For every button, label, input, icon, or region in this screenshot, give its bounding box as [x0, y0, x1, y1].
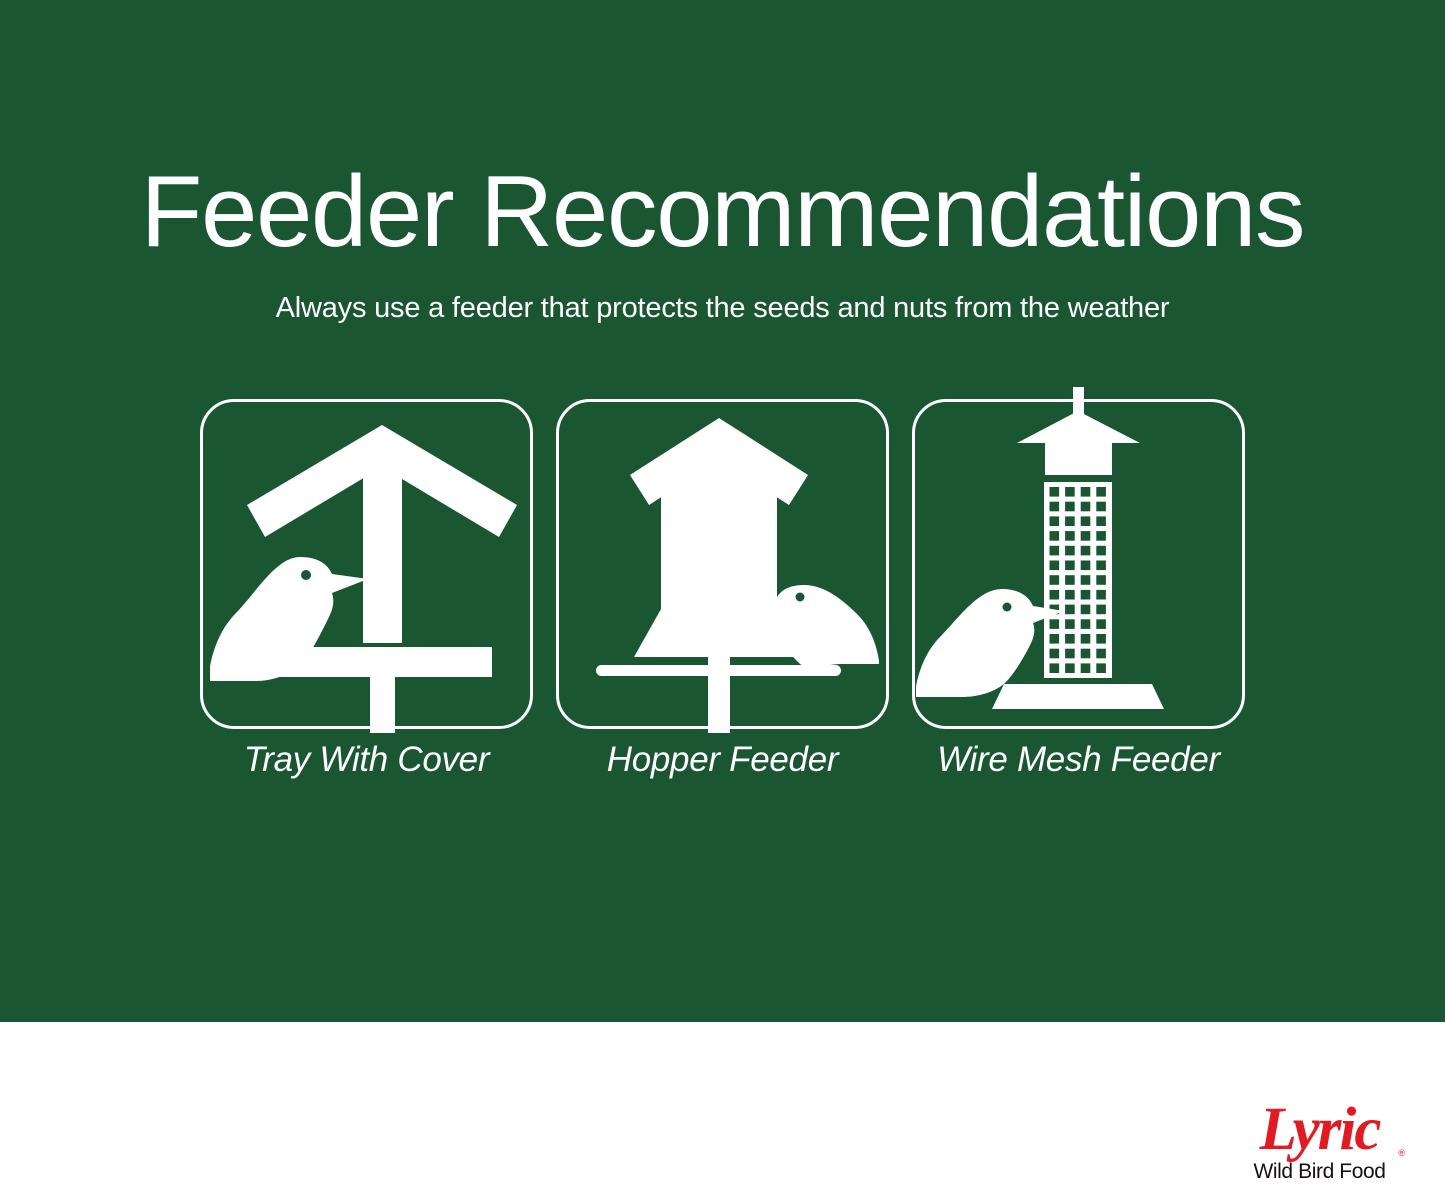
wire-mesh-feeder-icon — [912, 399, 1245, 729]
tray-with-cover-icon-box — [200, 399, 533, 729]
feeder-label-tray-with-cover: Tray With Cover — [186, 739, 547, 781]
page-title: Feeder Recommendations — [0, 160, 1445, 264]
logo-tagline: Wild Bird Food — [1232, 1160, 1407, 1184]
wire-mesh-feeder-icon-box — [912, 399, 1245, 729]
feeder-icon-row: Tray With Cover — [200, 399, 1245, 794]
lyric-logo: Lyric ® Wild Bird Food — [1232, 1098, 1407, 1190]
tray-with-cover-icon — [200, 399, 533, 729]
feeder-card-wire-mesh-feeder: Wire Mesh Feeder — [912, 399, 1245, 794]
page-subtitle: Always use a feeder that protects the se… — [0, 291, 1445, 325]
feeder-card-hopper-feeder: Hopper Feeder — [556, 399, 889, 794]
feeder-label-wire-mesh-feeder: Wire Mesh Feeder — [898, 739, 1259, 781]
logo-wordmark: Lyric — [1232, 1098, 1407, 1162]
feeder-label-hopper-feeder: Hopper Feeder — [542, 739, 903, 781]
hopper-feeder-icon-box — [556, 399, 889, 729]
page-root: Feeder Recommendations Always use a feed… — [0, 0, 1445, 1204]
feeder-card-tray-with-cover: Tray With Cover — [200, 399, 533, 794]
hopper-feeder-icon — [556, 399, 889, 729]
registered-trademark-icon: ® — [1398, 1148, 1405, 1158]
hero-panel: Feeder Recommendations Always use a feed… — [0, 0, 1445, 1022]
footer-bar: Lyric ® Wild Bird Food — [0, 1022, 1445, 1204]
